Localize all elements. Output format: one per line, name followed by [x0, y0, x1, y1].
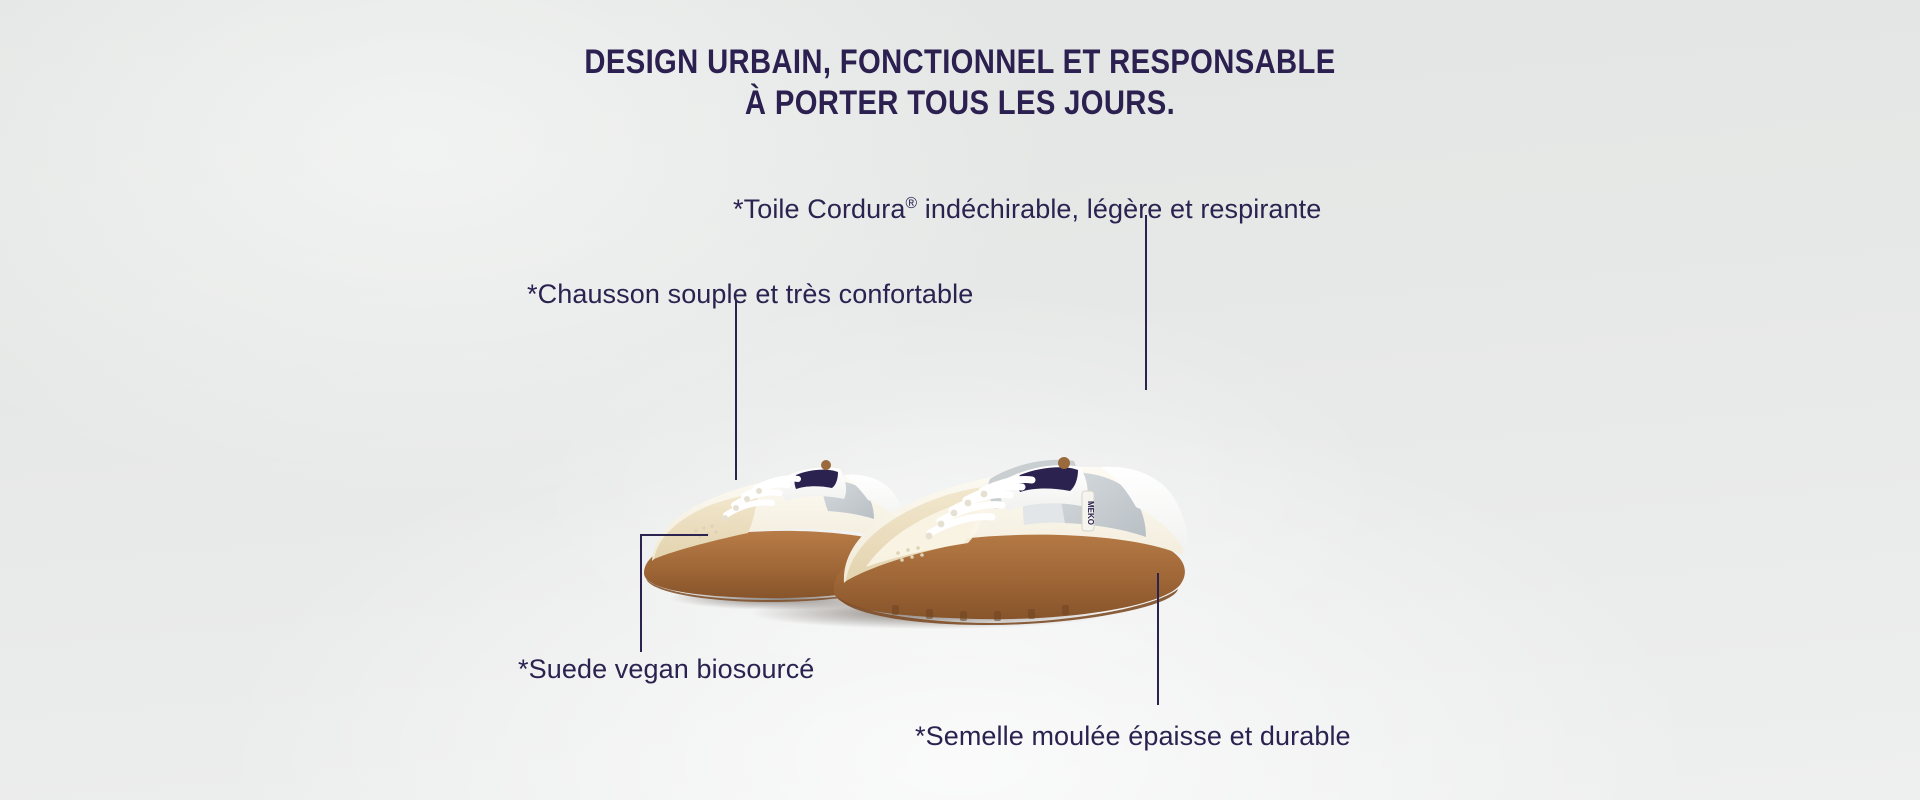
sneaker-right: MEKO: [834, 457, 1188, 625]
callout-text: *: [733, 194, 744, 224]
leader-line-chausson: [735, 300, 739, 480]
callout-label-cordura: *Toile Cordura® indéchirable, légère et …: [733, 193, 1321, 225]
callout-text: indéchirable, légère et respirante: [917, 194, 1321, 224]
leader-segment: [640, 534, 642, 652]
leader-line-cordura: [1145, 215, 1149, 390]
svg-text:MEKO: MEKO: [1086, 501, 1095, 525]
product-feature-banner: DESIGN URBAIN, FONCTIONNEL ET RESPONSABL…: [0, 0, 1920, 800]
registered-trademark-icon: ®: [906, 195, 918, 212]
brand-tab: MEKO: [1082, 491, 1095, 531]
callout-label-chausson: *Chausson souple et très confortable: [527, 278, 973, 310]
leader-line-semelle: [1157, 573, 1161, 705]
headline-line-1: DESIGN URBAIN, FONCTIONNEL ET RESPONSABL…: [134, 42, 1785, 83]
leader-segment: [1145, 215, 1147, 390]
headline-line-2: À PORTER TOUS LES JOURS.: [134, 83, 1785, 124]
brand-logo-icon: [795, 460, 839, 489]
callout-label-suede: *Suede vegan biosourcé: [518, 653, 814, 685]
product-image-sneaker-pair: MEKO: [630, 355, 1290, 635]
leader-segment: [735, 300, 737, 480]
leader-segment: [640, 534, 708, 536]
callout-label-semelle: *Semelle moulée épaisse et durable: [915, 720, 1351, 752]
callout-text: Toile Cordura: [744, 194, 906, 224]
page-title: DESIGN URBAIN, FONCTIONNEL ET RESPONSABL…: [134, 42, 1785, 125]
leader-line-suede: [640, 534, 708, 652]
leader-segment: [1157, 573, 1159, 705]
